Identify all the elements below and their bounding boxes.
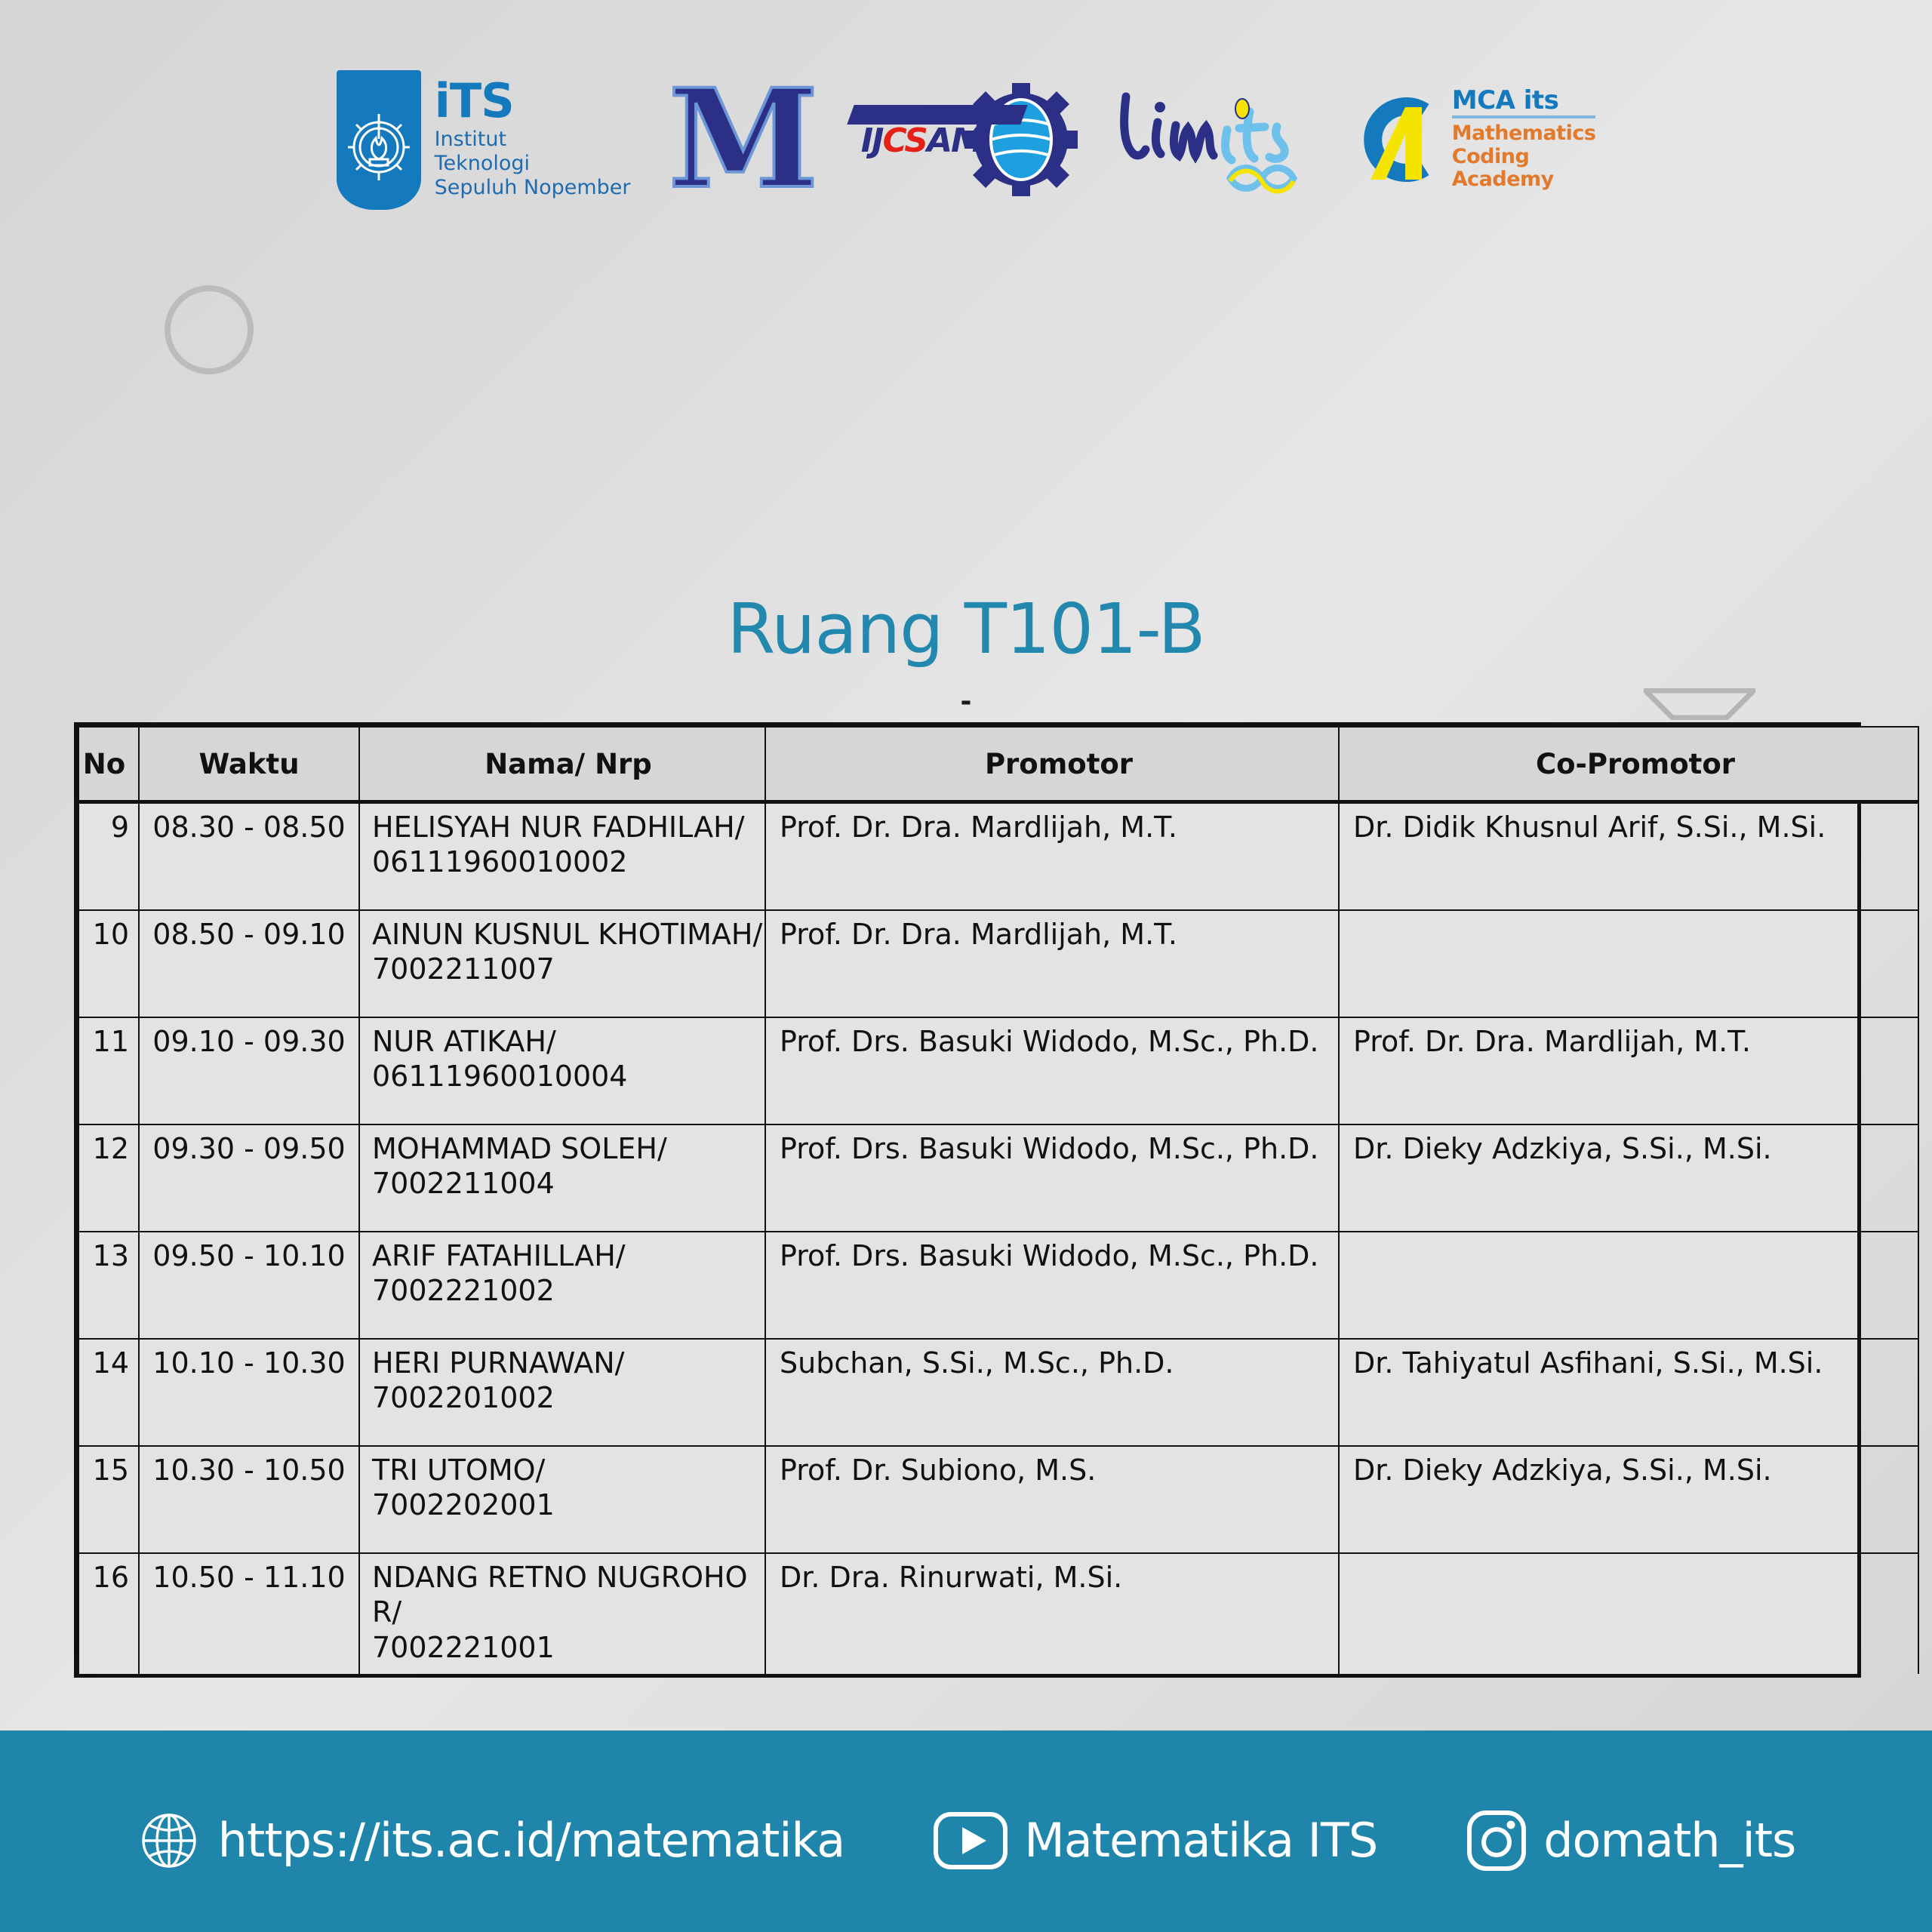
- its-acronym: iTS: [435, 79, 631, 124]
- cell-waktu: 10.10 - 10.30: [139, 1339, 359, 1446]
- cell-nama-nrp: NUR ATIKAH/06111960010004: [359, 1017, 765, 1124]
- cell-waktu: 10.30 - 10.50: [139, 1446, 359, 1553]
- cell-nama-nrp: MOHAMMAD SOLEH/7002211004: [359, 1124, 765, 1232]
- footer-youtube-label: Matematika ITS: [1024, 1813, 1377, 1868]
- ijcsam-wordmark: IJCSAM: [854, 117, 984, 163]
- cell-no: 15: [78, 1446, 139, 1553]
- column-header-no: No: [78, 727, 139, 802]
- cell-promotor: Subchan, S.Si., M.Sc., Ph.D.: [765, 1339, 1339, 1446]
- its-sub-line-3: Sepuluh Nopember: [435, 176, 631, 200]
- footer-instagram[interactable]: domath_its: [1466, 1810, 1795, 1872]
- cell-nama-nrp: NDANG RETNO NUGROHO R/7002221001: [359, 1553, 765, 1674]
- student-nrp: 7002221002: [372, 1273, 764, 1308]
- cell-waktu: 09.30 - 09.50: [139, 1124, 359, 1232]
- m-logo: M: [663, 84, 822, 195]
- student-name: NDANG RETNO NUGROHO R/: [372, 1561, 748, 1629]
- mca-sub-line-3: Academy: [1452, 168, 1596, 192]
- ijcsam-part-3: AM: [927, 122, 983, 160]
- cell-promotor: Prof. Dr. Dra. Mardlijah, M.T.: [765, 802, 1339, 911]
- table-row: 1109.10 - 09.30NUR ATIKAH/06111960010004…: [78, 1017, 1918, 1124]
- mca-title: MCA its: [1452, 88, 1596, 118]
- limits-wordmark-icon: [1109, 83, 1321, 196]
- youtube-icon: [934, 1812, 1008, 1869]
- cell-waktu: 10.50 - 11.10: [139, 1553, 359, 1674]
- table-body: 908.30 - 08.50HELISYAH NUR FADHILAH/0611…: [78, 802, 1918, 1675]
- cell-copromotor: Dr. Tahiyatul Asfihani, S.Si., M.Si.: [1339, 1339, 1918, 1446]
- cell-promotor: Prof. Drs. Basuki Widodo, M.Sc., Ph.D.: [765, 1124, 1339, 1232]
- table-row: 1410.10 - 10.30HERI PURNAWAN/7002201002S…: [78, 1339, 1918, 1446]
- table-row: 1209.30 - 09.50MOHAMMAD SOLEH/7002211004…: [78, 1124, 1918, 1232]
- table-row: 908.30 - 08.50HELISYAH NUR FADHILAH/0611…: [78, 802, 1918, 911]
- cell-nama-nrp: ARIF FATAHILLAH/7002221002: [359, 1232, 765, 1339]
- cell-nama-nrp: HERI PURNAWAN/7002201002: [359, 1339, 765, 1446]
- cell-no: 13: [78, 1232, 139, 1339]
- cell-promotor: Prof. Drs. Basuki Widodo, M.Sc., Ph.D.: [765, 1017, 1339, 1124]
- cell-copromotor: Dr. Didik Khusnul Arif, S.Si., M.Si.: [1339, 802, 1918, 911]
- cell-copromotor: Prof. Dr. Dra. Mardlijah, M.T.: [1339, 1017, 1918, 1124]
- cell-waktu: 09.50 - 10.10: [139, 1232, 359, 1339]
- footer-youtube[interactable]: Matematika ITS: [934, 1812, 1377, 1869]
- decorative-circle: [165, 285, 254, 374]
- student-nrp: 7002211007: [372, 952, 764, 986]
- instagram-icon: [1466, 1810, 1527, 1872]
- student-nrp: 7002202001: [372, 1487, 764, 1522]
- student-nrp: 06111960010002: [372, 844, 764, 879]
- table-row: 1309.50 - 10.10ARIF FATAHILLAH/700222100…: [78, 1232, 1918, 1339]
- schedule-table-wrapper: No Waktu Nama/ Nrp Promotor Co-Promotor …: [74, 722, 1861, 1678]
- column-header-nama-nrp: Nama/ Nrp: [359, 727, 765, 802]
- column-header-promotor: Promotor: [765, 727, 1339, 802]
- cell-no: 11: [78, 1017, 139, 1124]
- mca-logo: MCA its Mathematics Coding Academy: [1352, 88, 1596, 192]
- cell-copromotor: [1339, 1232, 1918, 1339]
- cell-promotor: Prof. Dr. Dra. Mardlijah, M.T.: [765, 910, 1339, 1017]
- its-gear-lotus-icon: [347, 105, 411, 188]
- cell-copromotor: [1339, 910, 1918, 1017]
- cell-promotor: Prof. Dr. Subiono, M.S.: [765, 1446, 1339, 1553]
- mca-mark-icon: [1352, 95, 1441, 184]
- mca-sub-line-1: Mathematics: [1452, 122, 1596, 146]
- globe-icon: [137, 1808, 202, 1873]
- its-emblem-icon: [337, 70, 421, 210]
- footer-website-label: https://its.ac.id/matematika: [218, 1813, 845, 1868]
- student-name: TRI UTOMO/: [372, 1454, 545, 1487]
- cell-copromotor: Dr. Dieky Adzkiya, S.Si., M.Si.: [1339, 1446, 1918, 1553]
- ijcsam-part-2: CS: [883, 122, 927, 160]
- its-sub-line-2: Teknologi: [435, 152, 631, 176]
- its-logo: iTS Institut Teknologi Sepuluh Nopember: [337, 70, 631, 210]
- cell-nama-nrp: TRI UTOMO/7002202001: [359, 1446, 765, 1553]
- student-nrp: 7002201002: [372, 1380, 764, 1415]
- logo-strip: iTS Institut Teknologi Sepuluh Nopember …: [0, 64, 1932, 215]
- cell-waktu: 08.50 - 09.10: [139, 910, 359, 1017]
- column-header-copromotor: Co-Promotor: [1339, 727, 1918, 802]
- student-name: AINUN KUSNUL KHOTIMAH/: [372, 918, 762, 951]
- table-header-row: No Waktu Nama/ Nrp Promotor Co-Promotor: [78, 727, 1918, 802]
- ijcsam-part-1: IJ: [861, 122, 883, 160]
- mca-sub-line-2: Coding: [1452, 146, 1596, 169]
- footer-website[interactable]: https://its.ac.id/matematika: [137, 1808, 845, 1873]
- cell-no: 14: [78, 1339, 139, 1446]
- cell-copromotor: [1339, 1553, 1918, 1674]
- ijcsam-logo: IJCSAM: [854, 83, 1078, 196]
- footer-instagram-label: domath_its: [1543, 1813, 1795, 1868]
- cell-no: 9: [78, 802, 139, 911]
- student-name: NUR ATIKAH/: [372, 1025, 556, 1058]
- page-title: Ruang T101-B: [0, 589, 1932, 669]
- cell-no: 12: [78, 1124, 139, 1232]
- student-nrp: 7002211004: [372, 1166, 764, 1201]
- its-sub-line-1: Institut: [435, 128, 631, 152]
- column-header-waktu: Waktu: [139, 727, 359, 802]
- student-nrp: 06111960010004: [372, 1059, 764, 1094]
- footer-bar: https://its.ac.id/matematika Matematika …: [0, 1730, 1932, 1932]
- student-nrp: 7002221001: [372, 1630, 764, 1665]
- schedule-table: No Waktu Nama/ Nrp Promotor Co-Promotor …: [78, 726, 1919, 1674]
- cell-no: 16: [78, 1553, 139, 1674]
- table-row: 1510.30 - 10.50TRI UTOMO/7002202001Prof.…: [78, 1446, 1918, 1553]
- table-row: 1610.50 - 11.10NDANG RETNO NUGROHO R/700…: [78, 1553, 1918, 1674]
- table-row: 1008.50 - 09.10AINUN KUSNUL KHOTIMAH/700…: [78, 910, 1918, 1017]
- poster-canvas: iTS Institut Teknologi Sepuluh Nopember …: [0, 0, 1932, 1932]
- student-name: MOHAMMAD SOLEH/: [372, 1132, 667, 1165]
- cell-no: 10: [78, 910, 139, 1017]
- limits-logo: [1109, 83, 1321, 196]
- title-subdash: -: [0, 688, 1932, 715]
- cell-nama-nrp: AINUN KUSNUL KHOTIMAH/7002211007: [359, 910, 765, 1017]
- student-name: HELISYAH NUR FADHILAH/: [372, 811, 745, 844]
- cell-nama-nrp: HELISYAH NUR FADHILAH/06111960010002: [359, 802, 765, 911]
- cell-copromotor: Dr. Dieky Adzkiya, S.Si., M.Si.: [1339, 1124, 1918, 1232]
- cell-waktu: 09.10 - 09.30: [139, 1017, 359, 1124]
- student-name: HERI PURNAWAN/: [372, 1346, 624, 1380]
- cell-promotor: Dr. Dra. Rinurwati, M.Si.: [765, 1553, 1339, 1674]
- cell-waktu: 08.30 - 08.50: [139, 802, 359, 911]
- cell-promotor: Prof. Drs. Basuki Widodo, M.Sc., Ph.D.: [765, 1232, 1339, 1339]
- student-name: ARIF FATAHILLAH/: [372, 1239, 626, 1272]
